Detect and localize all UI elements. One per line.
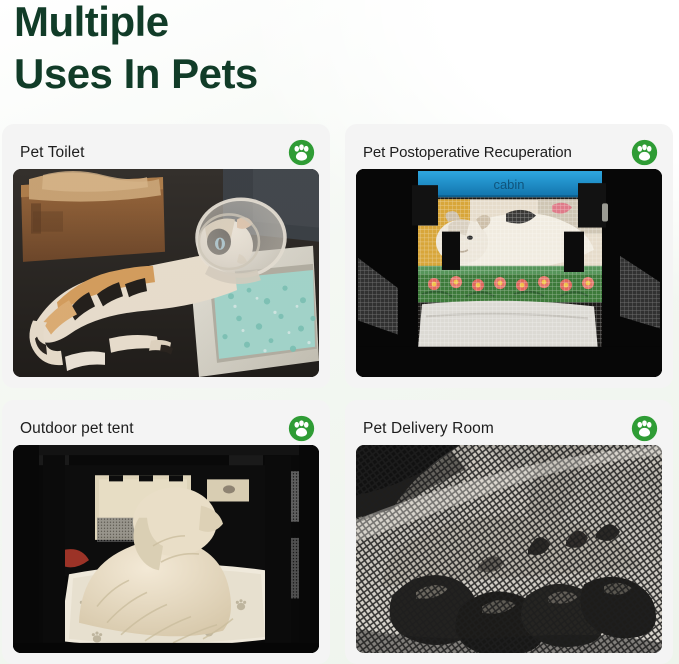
paw-print-icon	[288, 139, 315, 166]
use-case-card-grid: Pet Toilet	[2, 124, 677, 664]
use-case-photo-pet-toilet	[13, 169, 319, 377]
card-title: Pet Delivery Room	[363, 419, 494, 438]
use-case-card-pet-toilet: Pet Toilet	[2, 124, 330, 388]
use-case-card-pet-delivery-room: Pet Delivery Room	[345, 400, 673, 664]
use-case-photo-pet-delivery-room	[356, 445, 662, 653]
use-case-photo-pet-postoperative-recuperation: cabin	[356, 169, 662, 377]
card-title: Outdoor pet tent	[20, 419, 134, 438]
use-case-photo-outdoor-pet-tent	[13, 445, 319, 653]
card-header: Pet Delivery Room	[356, 411, 662, 445]
promotional-feature-panel: Multiple Uses In Pets Pet Toilet	[0, 0, 679, 664]
card-title: Pet Toilet	[20, 143, 84, 162]
page-title: Multiple Uses In Pets	[14, 0, 534, 100]
svg-text:cabin: cabin	[493, 177, 524, 192]
use-case-card-pet-postoperative-recuperation: Pet Postoperative Recuperation	[345, 124, 673, 388]
paw-print-icon	[631, 415, 658, 442]
card-header: Pet Toilet	[13, 135, 319, 169]
use-case-card-outdoor-pet-tent: Outdoor pet tent	[2, 400, 330, 664]
paw-print-icon	[288, 415, 315, 442]
card-title: Pet Postoperative Recuperation	[363, 143, 572, 162]
card-header: Pet Postoperative Recuperation	[356, 135, 662, 169]
card-header: Outdoor pet tent	[13, 411, 319, 445]
paw-print-icon	[631, 139, 658, 166]
